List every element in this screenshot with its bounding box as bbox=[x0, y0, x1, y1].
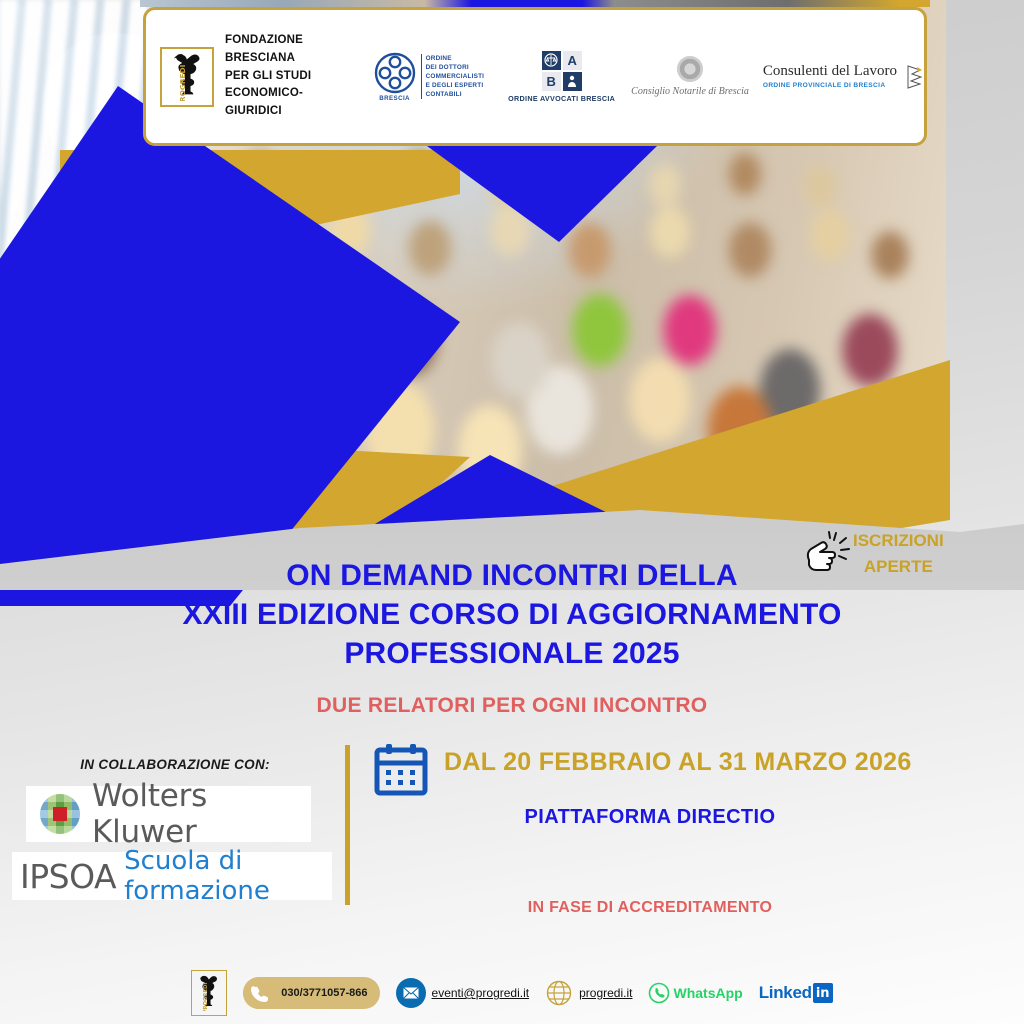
fondazione-name: FONDAZIONE BRESCIANA PER GLI STUDI ECONO… bbox=[225, 32, 326, 121]
avvocati-label: ORDINE AVVOCATI BRESCIA bbox=[508, 94, 615, 103]
website-contact[interactable]: progredi.it bbox=[545, 979, 632, 1007]
odcec-line4: E DEGLI ESPERTI bbox=[426, 81, 485, 90]
odcec-city: BRESCIA bbox=[379, 95, 410, 102]
svg-text:PROGREDI: PROGREDI bbox=[178, 64, 187, 101]
odcec-line5: CONTABILI bbox=[426, 90, 485, 99]
odcec-line1: ORDINE bbox=[426, 54, 485, 63]
cdl-text: Consulenti del Lavoro ORDINE PROVINCIALE… bbox=[763, 64, 897, 89]
top-color-strip bbox=[140, 0, 930, 7]
cdl-line2: ORDINE PROVINCIALE DI BRESCIA bbox=[763, 82, 897, 89]
odcec-text: ORDINE DEI DOTTORI COMMERCIALISTI E DEGL… bbox=[421, 54, 485, 99]
phone-icon bbox=[243, 977, 275, 1009]
notarile-label: Consiglio Notarile di Brescia bbox=[631, 86, 749, 97]
svg-text:PROGREDI: PROGREDI bbox=[203, 983, 209, 1011]
contact-bar: PROGREDI 030/3771057-866 eventi@progredi… bbox=[0, 962, 1024, 1024]
title-line2: XXIII EDIZIONE CORSO DI AGGIORNAMENTO bbox=[62, 595, 962, 634]
odcec-line3: COMMERCIALISTI bbox=[426, 72, 485, 81]
cdl-flame-icon bbox=[904, 64, 924, 90]
linkedin-contact[interactable]: Linked in bbox=[759, 983, 833, 1003]
odcec-mark: BRESCIA bbox=[374, 52, 416, 102]
calendar-icon bbox=[373, 743, 429, 797]
odcec-circle-icon bbox=[374, 52, 416, 94]
linkedin-icon: in bbox=[813, 983, 833, 1003]
cdl-line1: Consulenti del Lavoro bbox=[763, 64, 897, 80]
website-url[interactable]: progredi.it bbox=[579, 986, 632, 1000]
ipsoa-name: IPSOA bbox=[20, 857, 116, 896]
avvocati-cell-figure bbox=[563, 72, 582, 91]
notarile-seal-icon bbox=[677, 56, 703, 82]
progredi-emblem-icon: PROGREDI bbox=[160, 47, 214, 107]
logo-ordine-avvocati: A B ORDINE AVVOCATI BRESCIA bbox=[508, 51, 615, 103]
vertical-gold-divider bbox=[345, 745, 350, 905]
logo-consiglio-notarile: Consiglio Notarile di Brescia bbox=[631, 56, 749, 97]
whatsapp-icon bbox=[648, 982, 670, 1004]
fondazione-line2: PER GLI STUDI bbox=[225, 68, 326, 86]
sponsor-logo-card: PROGREDI FONDAZIONE BRESCIANA PER GLI ST… bbox=[143, 7, 927, 146]
collaboration-label: IN COLLABORAZIONE CON: bbox=[20, 757, 330, 772]
platform-name: PIATTAFORMA DIRECTIO bbox=[360, 806, 940, 829]
logo-odcec-brescia: BRESCIA ORDINE DEI DOTTORI COMMERCIALIST… bbox=[374, 52, 485, 102]
linkedin-label: Linked bbox=[759, 983, 812, 1003]
badge-line1: ISCRIZIONI bbox=[853, 531, 944, 550]
ipsoa-tagline: Scuola di formazione bbox=[124, 846, 332, 906]
globe-icon bbox=[545, 979, 573, 1007]
logo-ipsoa: IPSOA Scuola di formazione bbox=[12, 852, 332, 900]
subtitle-two-speakers: DUE RELATORI PER OGNI INCONTRO bbox=[62, 694, 962, 718]
avvocati-letter-a: A bbox=[563, 51, 582, 70]
poster-canvas: PROGREDI FONDAZIONE BRESCIANA PER GLI ST… bbox=[0, 0, 1024, 1024]
scales-icon bbox=[544, 53, 558, 67]
wolters-kluwer-name: Wolters Kluwer bbox=[92, 778, 311, 850]
whatsapp-label: WhatsApp bbox=[673, 985, 742, 1001]
course-date-range: DAL 20 FEBBRAIO AL 31 MARZO 2026 bbox=[444, 748, 912, 777]
title-line1: ON DEMAND INCONTRI DELLA bbox=[62, 556, 962, 595]
fondazione-line3: ECONOMICO-GIURIDICI bbox=[225, 85, 326, 121]
logo-wolters-kluwer: Wolters Kluwer bbox=[26, 786, 311, 842]
wolters-kluwer-globe-icon bbox=[40, 794, 80, 834]
envelope-icon bbox=[396, 978, 426, 1008]
phone-number: 030/3771057-866 bbox=[281, 987, 367, 999]
fondazione-line1: FONDAZIONE BRESCIANA bbox=[225, 32, 326, 68]
avvocati-letter-b: B bbox=[542, 72, 561, 91]
page-title: ON DEMAND INCONTRI DELLA XXIII EDIZIONE … bbox=[62, 556, 962, 673]
avvocati-cell-crest bbox=[542, 51, 561, 70]
footer-progredi-logo-icon: PROGREDI bbox=[191, 970, 227, 1016]
email-contact[interactable]: eventi@progredi.it bbox=[396, 978, 530, 1008]
phone-contact[interactable]: 030/3771057-866 bbox=[243, 977, 379, 1009]
avvocati-mark: A B bbox=[542, 51, 582, 91]
odcec-line2: DEI DOTTORI bbox=[426, 63, 485, 72]
whatsapp-contact[interactable]: WhatsApp bbox=[648, 982, 742, 1004]
email-address[interactable]: eventi@progredi.it bbox=[432, 986, 530, 1000]
lawyer-figure-icon bbox=[565, 74, 579, 88]
title-line3: PROFESSIONALE 2025 bbox=[62, 634, 962, 673]
logo-fondazione-bresciana: PROGREDI FONDAZIONE BRESCIANA PER GLI ST… bbox=[160, 32, 326, 121]
logo-consulenti-lavoro: Consulenti del Lavoro ORDINE PROVINCIALE… bbox=[763, 64, 924, 90]
accreditation-status: IN FASE DI ACCREDITAMENTO bbox=[360, 899, 940, 917]
